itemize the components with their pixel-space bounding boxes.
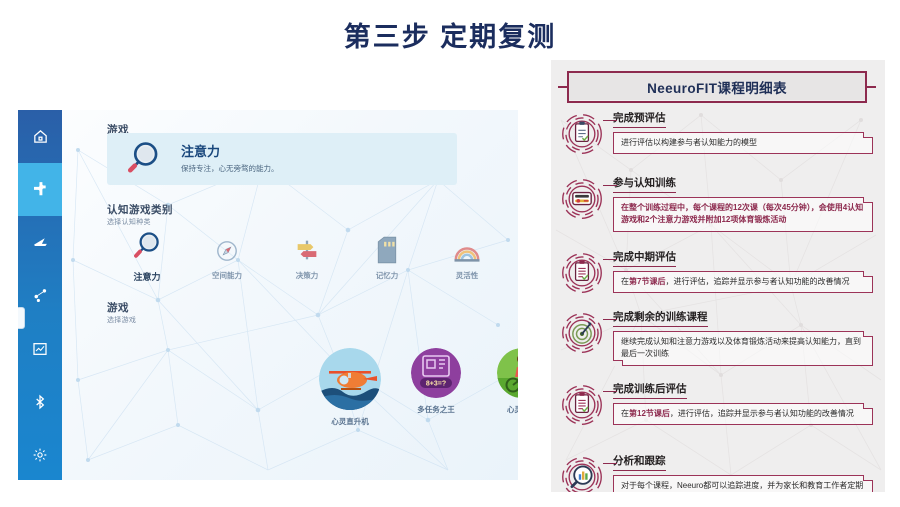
rainbow-arc-icon <box>427 228 507 264</box>
clipboard-mid-icon <box>551 247 613 305</box>
category-label: 决策力 <box>267 270 347 281</box>
step-body-suffix: ，进行评估，追踪并显示参与者认知功能的改善情况 <box>665 277 849 286</box>
focus-card[interactable]: 注意力 保持专注，心无旁骛的能力。 <box>107 133 457 185</box>
step-text: 完成剩余的训练课程 继续完成认知和注意力游戏以及体育锻炼活动来提高认知能力，直到… <box>613 307 885 377</box>
step-connector <box>603 120 617 121</box>
step-item: 完成预评估 进行评估以构建参与者认知能力的模型 <box>551 108 885 171</box>
step-text: 完成预评估 进行评估以构建参与者认知能力的模型 <box>613 108 885 171</box>
bracket-bottom <box>567 101 867 103</box>
box-notch <box>863 271 873 277</box>
sidebar-item-wing[interactable] <box>18 216 62 269</box>
section-category-label: 认知游戏类别 <box>107 202 173 217</box>
step-connector <box>603 463 617 464</box>
category-flexibility[interactable]: 灵活性 <box>427 228 507 283</box>
focus-card-desc: 保持专注，心无旁骛的能力。 <box>181 163 457 174</box>
section-game-select-label: 游戏 <box>107 300 129 315</box>
app-content: 游戏 注意力 保持专注，心无旁骛的能力。 认知游戏类别 选择认知种类 <box>62 110 518 480</box>
step-body: 在第12节课后，进行评估，追踪并显示参与者认知功能的改善情况 <box>613 403 873 425</box>
step-body-text: 对于每个课程，Neeuro都可以追踪进度，并为家长和教育工作者定期生成报告 <box>621 481 863 492</box>
svg-text:8+3=?: 8+3=? <box>426 381 446 388</box>
step-connector <box>603 185 617 186</box>
box-notch <box>863 331 873 337</box>
section-category-sub: 选择认知种类 <box>107 217 151 227</box>
category-label: 记忆力 <box>347 270 427 281</box>
category-row: 注意力 空间能力 <box>107 228 507 283</box>
step-text: 完成训练后评估 在第12节课后，进行评估，追踪并显示参与者认知功能的改善情况 <box>613 379 885 449</box>
bracket-top <box>567 71 867 73</box>
game-multitask[interactable]: 8+3=? 多任务之王 <box>393 348 479 427</box>
bluetooth-icon <box>32 394 48 410</box>
box-notch <box>863 132 873 138</box>
step-item: 完成剩余的训练课程 继续完成认知和注意力游戏以及体育锻炼活动来提高认知能力，直到… <box>551 307 885 377</box>
category-attention[interactable]: 注意力 <box>107 228 187 283</box>
settings-gear-icon <box>32 447 48 463</box>
step-item: 完成训练后评估 在第12节课后，进行评估，追踪并显示参与者认知功能的改善情况 <box>551 379 885 449</box>
headset-device-icon <box>551 173 613 245</box>
step-body: 继续完成认知和注意力游戏以及体育锻炼活动来提高认知能力，直到最后一次训练 <box>613 331 873 366</box>
category-decision[interactable]: 决策力 <box>267 228 347 283</box>
course-detail-panel: NeeuroFIT课程明细表 <box>551 60 885 492</box>
step-item: 参与认知训练 在整个训练过程中，每个课程的12次课（每次45分钟），会使用4认知… <box>551 173 885 245</box>
category-label: 注意力 <box>107 270 187 283</box>
panel-header-title: NeeuroFIT课程明细表 <box>567 73 867 100</box>
sidebar-item-reports[interactable] <box>18 322 62 375</box>
chart-report-icon <box>32 341 48 357</box>
page-title: 第三步 定期复测 <box>0 15 900 54</box>
game-label: 心灵直升机 <box>307 416 393 427</box>
step-body: 对于每个课程，Neeuro都可以追踪进度，并为家长和教育工作者定期生成报告 <box>613 475 873 492</box>
games-plus-icon <box>31 180 50 199</box>
box-notch <box>863 197 873 203</box>
sidebar-item-home[interactable] <box>18 110 62 163</box>
category-label: 灵活性 <box>427 270 507 281</box>
bracket-tick-right <box>866 86 876 88</box>
step-title: 分析和跟踪 <box>613 453 666 471</box>
step-text: 完成中期评估 在第7节课后，进行评估，追踪并显示参与者认知功能的改善情况 <box>613 247 885 305</box>
step-body-text: 继续完成认知和注意力游戏以及体育锻炼活动来提高认知能力，直到最后一次训练 <box>621 337 861 358</box>
step-item: 完成中期评估 在第7节课后，进行评估，追踪并显示参与者认知功能的改善情况 <box>551 247 885 305</box>
sidebar-drag-handle[interactable] <box>18 307 25 329</box>
category-spatial[interactable]: 空间能力 <box>187 228 267 283</box>
app-sidebar[interactable] <box>18 110 62 480</box>
sidebar-item-bluetooth[interactable] <box>18 375 62 428</box>
helicopter-icon <box>319 348 381 410</box>
step-connector <box>603 259 617 260</box>
box-notch-lower <box>613 360 623 366</box>
exercise-bone-icon <box>32 287 49 304</box>
game-cyclist[interactable]: 心灵骑士 <box>479 348 518 427</box>
step-body: 在整个训练过程中，每个课程的12次课（每次45分钟），会使用4认知游戏和2个注意… <box>613 197 873 232</box>
category-label: 空间能力 <box>187 270 267 281</box>
step-title: 完成预评估 <box>613 110 666 128</box>
box-notch <box>863 403 873 409</box>
step-connector <box>603 391 617 392</box>
step-text: 参与认知训练 在整个训练过程中，每个课程的12次课（每次45分钟），会使用4认知… <box>613 173 885 245</box>
step-item: 分析和跟踪 对于每个课程，Neeuro都可以追踪进度，并为家长和教育工作者定期生… <box>551 451 885 492</box>
game-row: 心灵直升机 8+3=? 多任务之王 <box>307 348 518 427</box>
multitask-icon: 8+3=? <box>411 348 461 398</box>
step-text: 分析和跟踪 对于每个课程，Neeuro都可以追踪进度，并为家长和教育工作者定期生… <box>613 451 885 492</box>
step-body: 在第7节课后，进行评估，追踪并显示参与者认知功能的改善情况 <box>613 271 873 293</box>
step-body-prefix: 在 <box>621 277 629 286</box>
focus-card-title: 注意力 <box>181 144 457 160</box>
step-body-prefix: 在 <box>621 409 629 418</box>
step-body: 进行评估以构建参与者认知能力的模型 <box>613 132 873 154</box>
compass-icon <box>187 228 267 264</box>
step-body-text: 进行评估以构建参与者认知能力的模型 <box>621 138 757 147</box>
sidebar-item-settings[interactable] <box>18 428 62 480</box>
step-title: 完成训练后评估 <box>613 381 687 399</box>
steps-list: 完成预评估 进行评估以构建参与者认知能力的模型 <box>551 108 885 492</box>
cyclist-icon <box>497 348 518 398</box>
step-body-suffix: ，进行评估，追踪并显示参与者认知功能的改善情况 <box>670 409 854 418</box>
section-game-select-sub: 选择游戏 <box>107 315 136 325</box>
game-label: 多任务之王 <box>393 404 479 415</box>
home-icon <box>32 128 49 145</box>
app-screenshot: 游戏 注意力 保持专注，心无旁骛的能力。 认知游戏类别 选择认知种类 <box>18 110 518 480</box>
slide-root: 第三步 定期复测 <box>0 0 900 507</box>
step-connector <box>603 319 617 320</box>
step-body-emphasis: 第7节课后 <box>629 277 665 286</box>
step-title: 完成中期评估 <box>613 249 676 267</box>
game-helicopter[interactable]: 心灵直升机 <box>307 348 393 427</box>
box-notch <box>863 475 873 481</box>
target-arrow-icon <box>551 307 613 377</box>
focus-card-text: 注意力 保持专注，心无旁骛的能力。 <box>181 144 457 174</box>
step-title: 完成剩余的训练课程 <box>613 309 708 327</box>
step-title: 参与认知训练 <box>613 175 676 193</box>
step-body-emphasis: 第12节课后 <box>629 409 670 418</box>
category-memory[interactable]: 记忆力 <box>347 228 427 283</box>
step-body-text: 在整个训练过程中，每个课程的12次课（每次45分钟），会使用4认知游戏和2个注意… <box>621 203 863 224</box>
signpost-icon <box>267 228 347 264</box>
sidebar-item-games[interactable] <box>18 163 62 216</box>
game-label: 心灵骑士 <box>479 404 518 415</box>
magnifier-icon <box>107 228 187 264</box>
wing-icon <box>32 234 49 251</box>
magnifier-chart-icon <box>551 451 613 492</box>
magnifier-icon <box>107 139 181 179</box>
clipboard-post-icon <box>551 379 613 449</box>
memory-card-icon <box>347 228 427 264</box>
bracket-tick-left <box>558 86 568 88</box>
clipboard-check-icon <box>551 108 613 171</box>
